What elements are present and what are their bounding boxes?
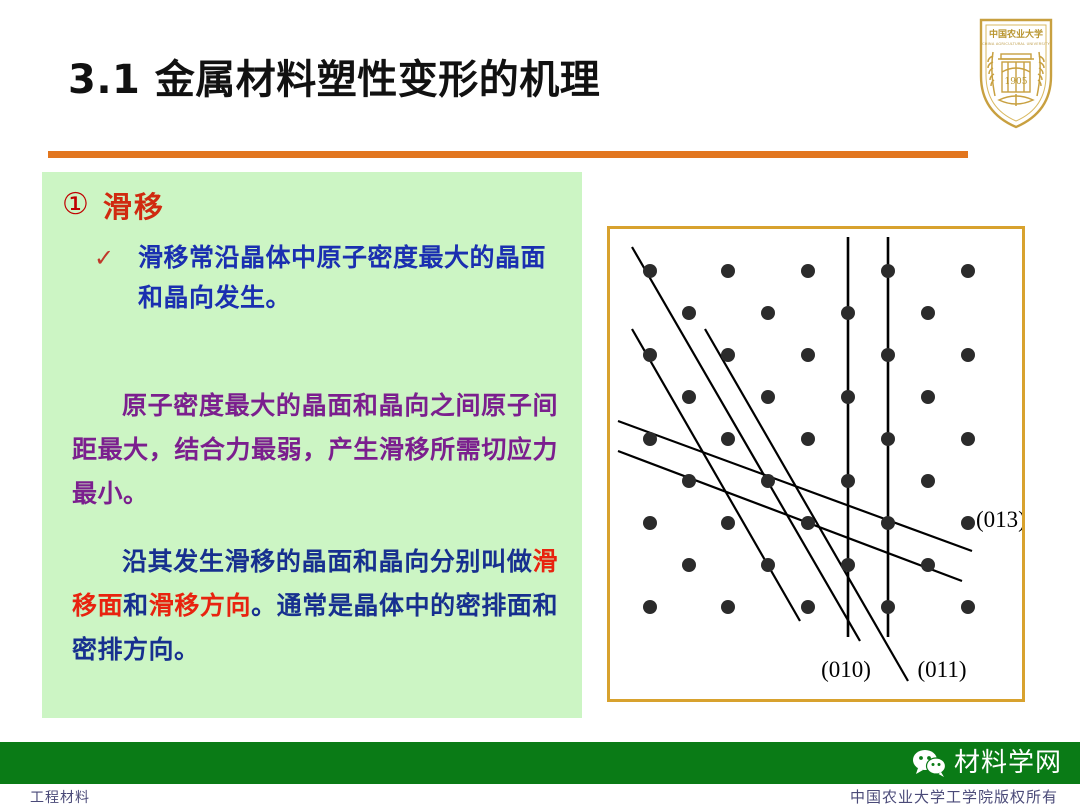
highlight-slip-direction: 滑移方向 bbox=[149, 591, 251, 620]
content-panel: ① 滑移 ✓ 滑移常沿晶体中原子密度最大的晶面和晶向发生。 原子密度最大的晶面和… bbox=[42, 172, 582, 718]
logo-en-name: CHINA AGRICULTURAL UNIVERSITY bbox=[982, 42, 1050, 46]
section-heading-label: 滑移 bbox=[103, 184, 165, 226]
wechat-brand-label: 材料学网 bbox=[954, 748, 1062, 778]
footer-course-name: 工程材料 bbox=[30, 787, 90, 807]
paragraph-slip-plane-direction: 沿其发生滑移的晶面和晶向分别叫做滑移面和滑移方向。通常是晶体中的密排面和密排方向… bbox=[72, 540, 558, 672]
wechat-icon bbox=[912, 749, 946, 777]
shallow-diagonal-traces bbox=[618, 421, 972, 581]
open-book-icon bbox=[999, 94, 1033, 106]
page-title: 3.1 金属材料塑性变形的机理 bbox=[68, 56, 600, 104]
shield-emblem-icon: 中国农业大学 CHINA AGRICULTURAL UNIVERSITY 190… bbox=[975, 14, 1057, 132]
wechat-brand: 材料学网 bbox=[912, 746, 1062, 780]
bullet-item-text: 滑移常沿晶体中原子密度最大的晶面和晶向发生。 bbox=[138, 238, 564, 318]
label-010: (010) bbox=[821, 657, 871, 682]
wheat-ear-left-icon bbox=[988, 52, 995, 96]
paragraph-part-1: 沿其发生滑移的晶面和晶向分别叫做 bbox=[122, 547, 532, 576]
section-number-marker: ① bbox=[62, 190, 89, 220]
lattice-atoms bbox=[643, 264, 975, 614]
crystal-lattice-diagram: (013) (010) (011) bbox=[610, 229, 1022, 699]
university-logo: 中国农业大学 CHINA AGRICULTURAL UNIVERSITY 190… bbox=[975, 14, 1057, 132]
wheat-ear-right-icon bbox=[1037, 52, 1044, 96]
label-011: (011) bbox=[918, 657, 967, 682]
label-013: (013) bbox=[976, 507, 1022, 532]
lattice-diagram-panel: (013) (010) (011) bbox=[607, 226, 1025, 702]
title-divider-rule bbox=[48, 151, 968, 158]
logo-cn-name: 中国农业大学 bbox=[989, 28, 1043, 40]
paragraph-atomic-density: 原子密度最大的晶面和晶向之间原子间距最大，结合力最弱，产生滑移所需切应力最小。 bbox=[72, 384, 558, 516]
section-heading: ① 滑移 bbox=[62, 184, 165, 226]
logo-year: 1905 bbox=[1005, 77, 1028, 87]
check-mark-icon: ✓ bbox=[94, 238, 138, 276]
paragraph-part-2: 和 bbox=[123, 591, 149, 620]
footer-copyright: 中国农业大学工学院版权所有 bbox=[850, 786, 1058, 807]
bullet-item: ✓ 滑移常沿晶体中原子密度最大的晶面和晶向发生。 bbox=[94, 238, 564, 318]
